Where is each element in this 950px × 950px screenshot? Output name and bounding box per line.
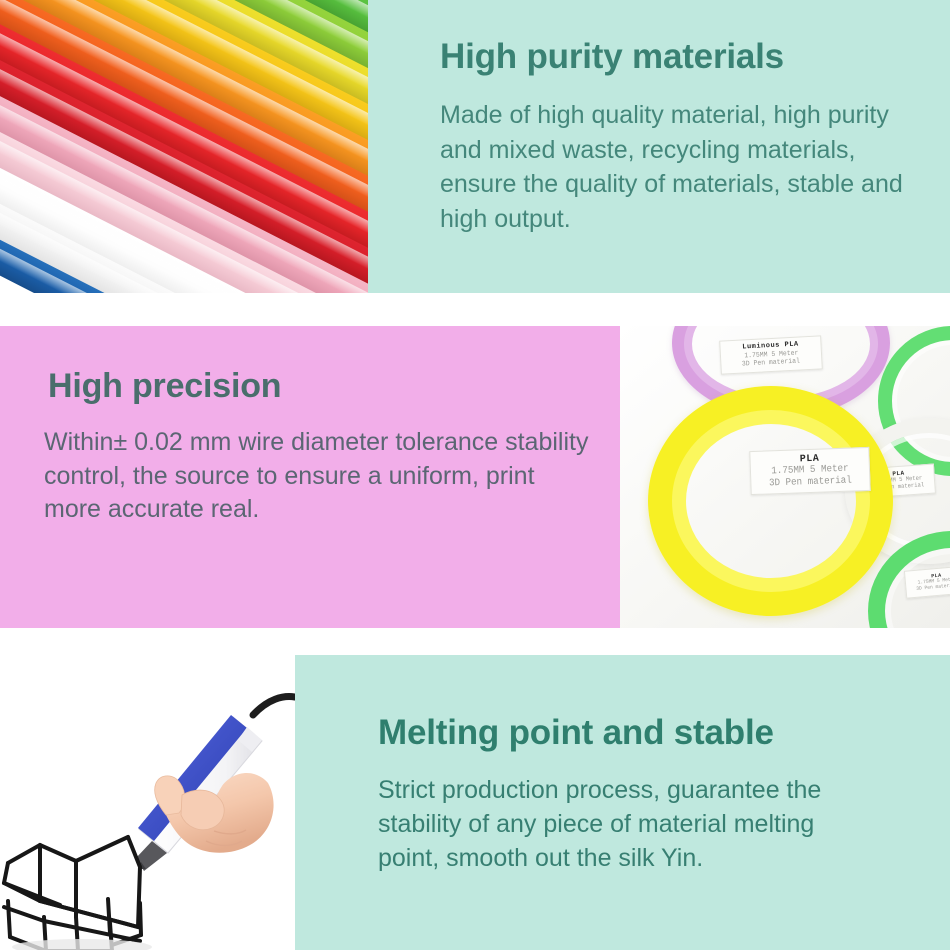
section-high-precision: High precision Within± 0.02 mm wire diam… [0, 326, 620, 628]
section-melting-heading: Melting point and stable [378, 712, 774, 754]
section-melting-body: Strict production process, guarantee the… [378, 773, 878, 875]
yellow-coil-inner [672, 410, 870, 592]
hand-pen-illustration [0, 655, 295, 950]
green-coil-bottom-label: PLA 1.75MM 5 Meter 3D Pen material [904, 565, 950, 598]
section-purity-body: Made of high quality material, high puri… [440, 98, 910, 236]
section-precision-heading: High precision [48, 366, 281, 406]
filament-strand-stack [0, 0, 368, 293]
coil-label-title: PLA [800, 454, 820, 466]
infographic-page: High purity materials Made of high quali… [0, 0, 950, 950]
section-precision-body: Within± 0.02 mm wire diameter tolerance … [44, 426, 589, 527]
luminous-purple-coil-label: Luminous PLA 1.75MM 5 Meter 3D Pen mater… [719, 335, 823, 374]
index-finger [181, 790, 224, 830]
yellow-coil-label: PLA 1.75MM 5 Meter 3D Pen material [749, 447, 870, 495]
section-melting-point-and-stable: Melting point and stable Strict producti… [295, 655, 950, 950]
coil-label-sub-2: 3D Pen material [769, 475, 852, 489]
pla-filament-coils-photo: Luminous PLA 1.75MM 5 Meter 3D Pen mater… [620, 326, 950, 628]
hand-holding-3d-pen-photo [0, 655, 295, 950]
coil-label-sub-2: 3D Pen material [917, 583, 950, 592]
section-high-purity-materials: High purity materials Made of high quali… [368, 0, 950, 293]
coil-label-sub-2: 3D Pen material [742, 357, 800, 368]
section-purity-heading: High purity materials [440, 36, 784, 78]
rainbow-filament-strands-photo [0, 0, 368, 293]
